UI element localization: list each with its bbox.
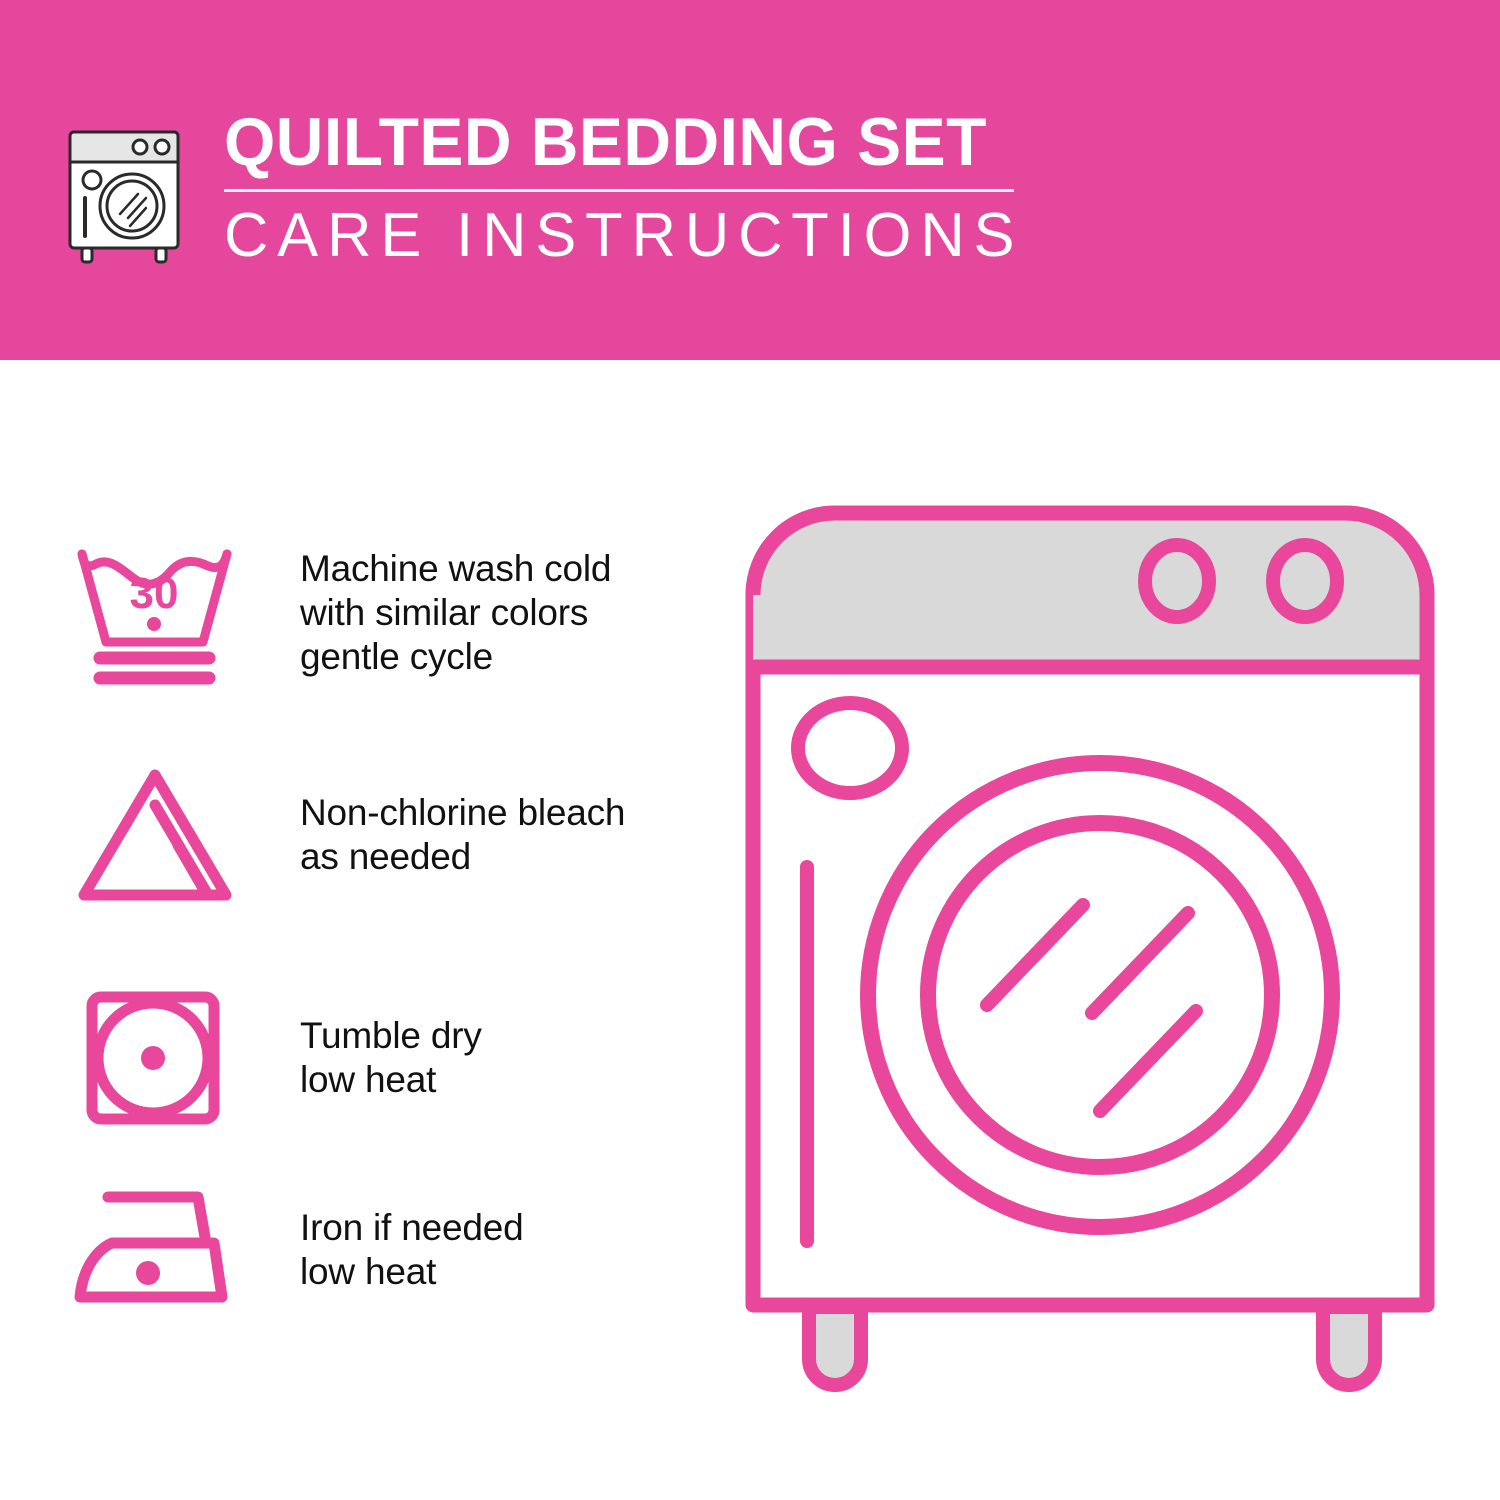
triangle-non-chlorine-bleach-icon [70, 763, 300, 908]
leg-left [809, 1307, 861, 1385]
iron-low-heat-icon [70, 1185, 300, 1315]
page-subtitle: CARE INSTRUCTIONS [224, 202, 1016, 270]
care-row: Non-chlorine bleachas needed [70, 720, 730, 950]
care-label-dry: Tumble drylow heat [300, 1014, 730, 1102]
care-label-bleach: Non-chlorine bleachas needed [300, 791, 730, 879]
leg-right [1323, 1307, 1375, 1385]
header-band: QUILTED BEDDING SET CARE INSTRUCTIONS [0, 0, 1500, 360]
front-load-washing-machine-illustration [735, 495, 1445, 1425]
wash-temperature-value: 30 [130, 569, 179, 618]
tumble-dry-low-heat-icon [70, 985, 300, 1130]
care-instructions-page: QUILTED BEDDING SET CARE INSTRUCTIONS [0, 0, 1500, 1500]
knob-right [1273, 545, 1337, 617]
care-label-iron: Iron if neededlow heat [300, 1206, 730, 1294]
care-row: Tumble drylow heat [70, 950, 730, 1165]
wash-tub-30-gentle-icon: 30 [70, 538, 300, 688]
care-instruction-list: 30 Machine wash coldwith similar colorsg… [70, 505, 730, 1335]
care-label-wash: Machine wash coldwith similar colorsgent… [300, 547, 730, 679]
power-button [798, 703, 902, 793]
care-row: Iron if neededlow heat [70, 1165, 730, 1335]
knob-left [1145, 545, 1209, 617]
header-text-block: QUILTED BEDDING SET CARE INSTRUCTIONS [224, 104, 1024, 270]
care-row: 30 Machine wash coldwith similar colorsg… [70, 505, 730, 720]
header-content: QUILTED BEDDING SET CARE INSTRUCTIONS [62, 104, 1024, 270]
page-title: QUILTED BEDDING SET [224, 104, 1000, 180]
washing-machine-icon [62, 106, 186, 266]
header-divider [224, 189, 1014, 192]
